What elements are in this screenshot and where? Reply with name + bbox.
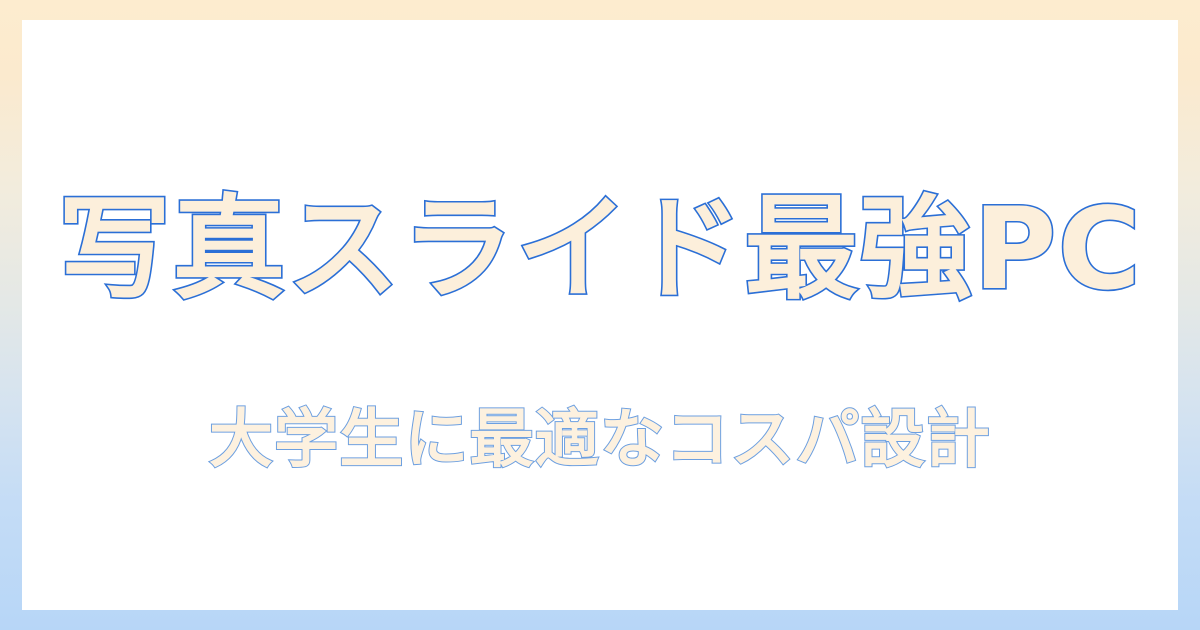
title-container: 写真スライド最強PC: [22, 188, 1178, 310]
thumbnail-canvas: 写真スライド最強PC 大学生に最適なコスパ設計: [0, 0, 1200, 630]
subtitle-container: 大学生に最適なコスパ設計: [22, 405, 1178, 477]
page-title: 写真スライド最強PC: [54, 188, 1146, 310]
inner-white-card: 写真スライド最強PC 大学生に最適なコスパ設計: [22, 20, 1178, 610]
page-subtitle: 大学生に最適なコスパ設計: [205, 405, 995, 477]
